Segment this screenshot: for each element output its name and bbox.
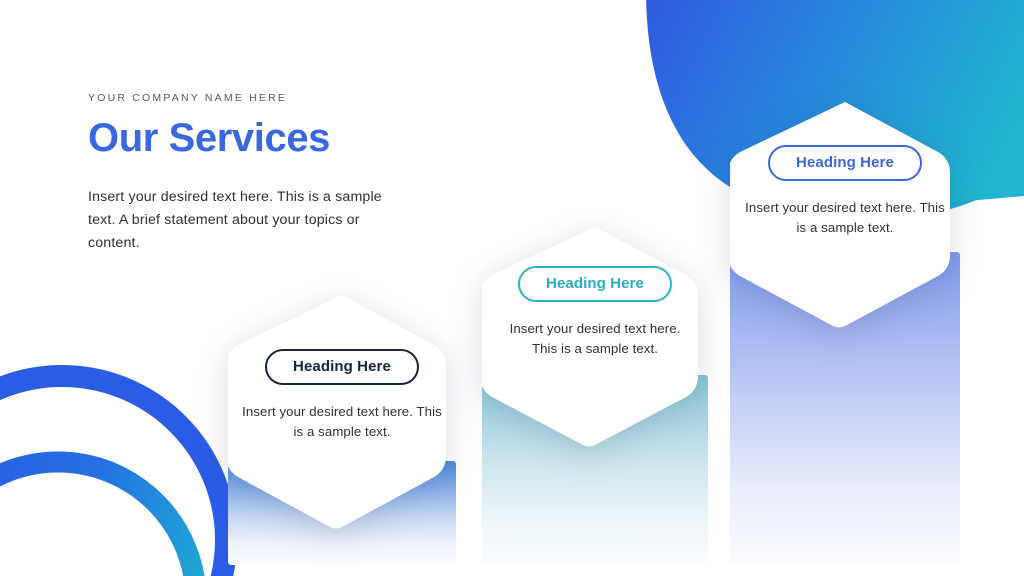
gradient-circle-ring: [0, 462, 196, 576]
card-3-heading-pill[interactable]: Heading Here: [768, 145, 922, 181]
card-2-content: Heading Here Insert your desired text he…: [482, 266, 708, 360]
service-card-1[interactable]: Heading Here Insert your desired text he…: [228, 293, 456, 565]
page-title: Our Services: [88, 118, 428, 158]
card-3-content: Heading Here Insert your desired text he…: [730, 145, 960, 239]
card-2-heading-pill[interactable]: Heading Here: [518, 266, 672, 302]
intro-paragraph: Insert your desired text here. This is a…: [88, 186, 406, 255]
headline-block: YOUR COMPANY NAME HERE Our Services Inse…: [88, 92, 428, 255]
card-1-heading-pill[interactable]: Heading Here: [265, 349, 419, 385]
card-2-description: Insert your desired text here. This is a…: [496, 319, 694, 360]
company-name-eyebrow: YOUR COMPANY NAME HERE: [88, 92, 428, 104]
card-1-content: Heading Here Insert your desired text he…: [228, 349, 456, 443]
slide-canvas: YOUR COMPANY NAME HERE Our Services Inse…: [0, 0, 1024, 576]
card-3-description: Insert your desired text here. This is a…: [744, 198, 946, 239]
card-1-description: Insert your desired text here. This is a…: [242, 402, 442, 443]
service-card-2[interactable]: Heading Here Insert your desired text he…: [482, 225, 708, 565]
service-card-3[interactable]: Heading Here Insert your desired text he…: [730, 100, 960, 565]
